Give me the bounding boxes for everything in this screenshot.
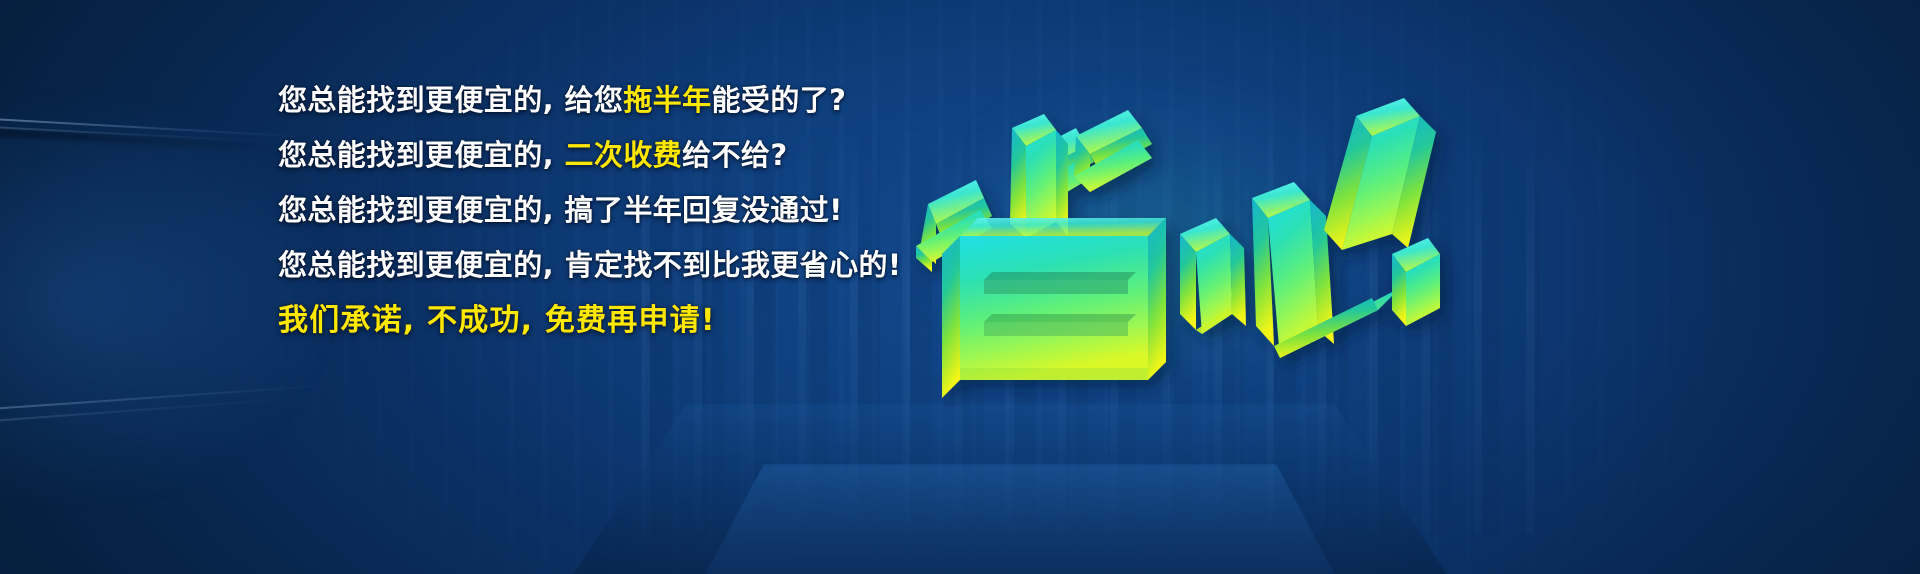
copy-line-3: 您总能找到更便宜的, 搞了半年回复没通过! bbox=[278, 196, 918, 225]
copy-line-2-highlight: 二次收费 bbox=[565, 138, 683, 172]
copy-line-1-part-1: 您总能找到更便宜的, 给您 bbox=[278, 83, 623, 117]
copy-line-2-part-3: 给不给? bbox=[682, 138, 787, 172]
copy-line-4: 您总能找到更便宜的, 肯定找不到比我更省心的! bbox=[278, 251, 918, 280]
copy-line-promise: 我们承诺, 不成功, 免费再申请! bbox=[278, 306, 918, 336]
copy-line-1-part-3: 能受的了? bbox=[712, 83, 847, 117]
copy-line-3-text: 您总能找到更便宜的, 搞了半年回复没通过! bbox=[278, 193, 843, 227]
copy-line-1-highlight: 拖半年 bbox=[623, 83, 711, 117]
glyph-sheng bbox=[916, 110, 1166, 398]
copy-line-2: 您总能找到更便宜的, 二次收费给不给? bbox=[278, 141, 918, 170]
marketing-copy-block: 您总能找到更便宜的, 给您拖半年能受的了? 您总能找到更便宜的, 二次收费给不给… bbox=[278, 86, 918, 336]
glyph-xin bbox=[1180, 98, 1440, 358]
copy-line-promise-text: 我们承诺, 不成功, 免费再申请! bbox=[278, 303, 716, 338]
artwork-shengxin bbox=[880, 58, 1440, 398]
promo-banner: 您总能找到更便宜的, 给您拖半年能受的了? 您总能找到更便宜的, 二次收费给不给… bbox=[0, 0, 1920, 574]
copy-line-4-text: 您总能找到更便宜的, 肯定找不到比我更省心的! bbox=[278, 248, 902, 282]
copy-line-2-part-1: 您总能找到更便宜的, bbox=[278, 138, 565, 172]
copy-line-1: 您总能找到更便宜的, 给您拖半年能受的了? bbox=[278, 86, 918, 115]
